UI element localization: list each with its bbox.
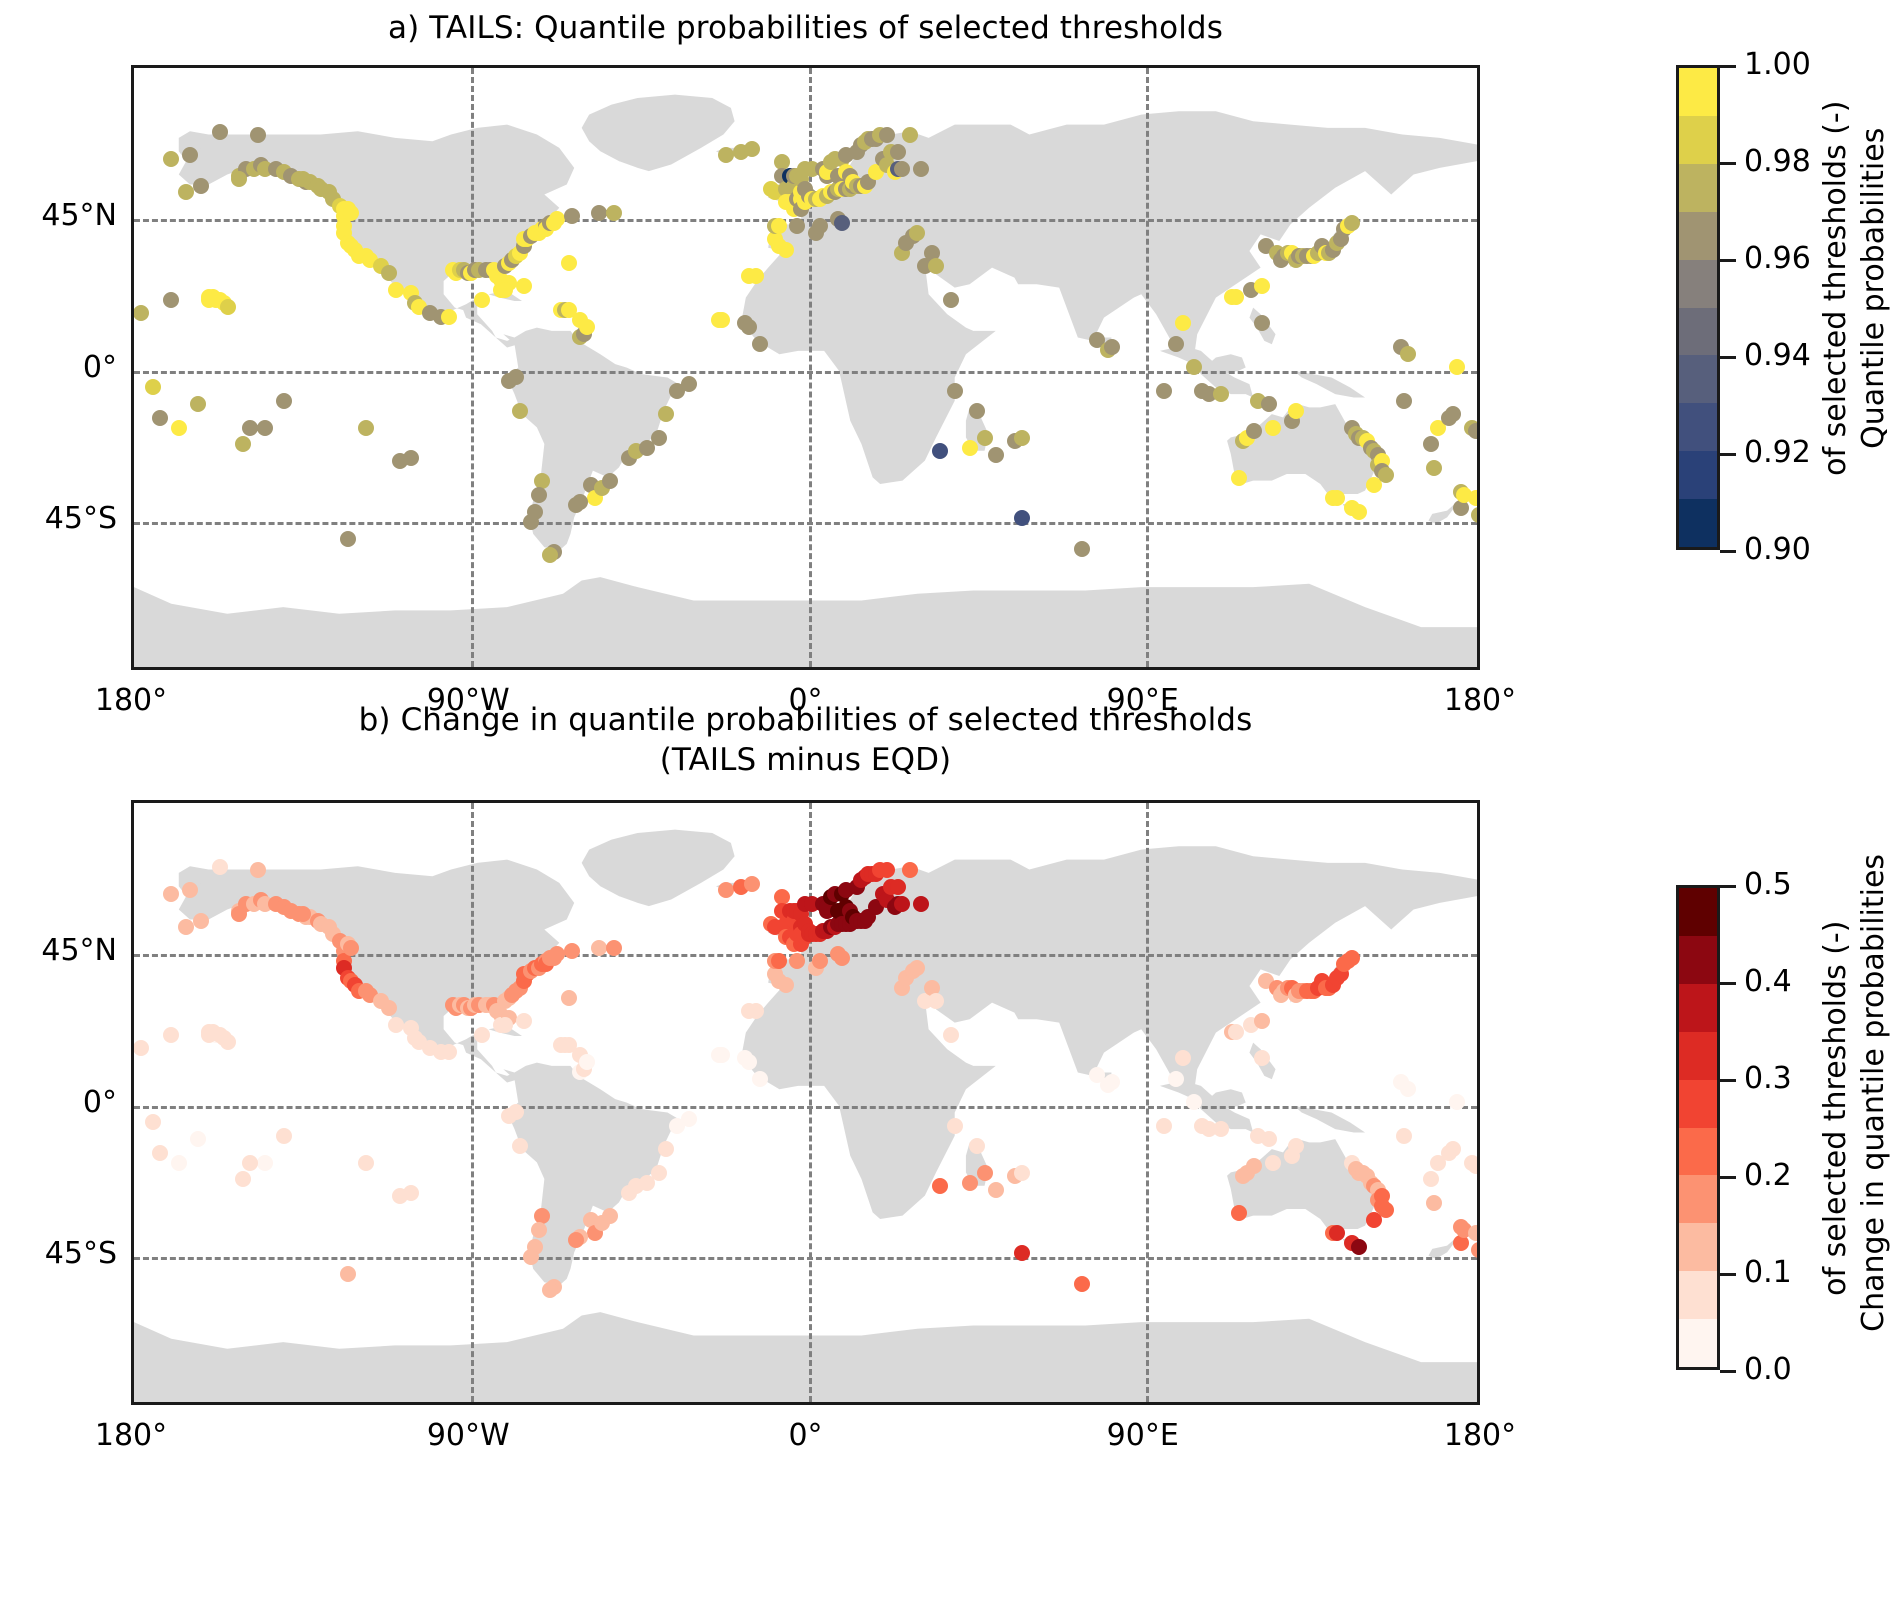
- panel-b-title: b) Change in quantile probabilities of s…: [131, 700, 1480, 780]
- station-marker: [549, 946, 565, 962]
- station-marker: [789, 218, 805, 234]
- station-marker: [1378, 467, 1394, 483]
- colorbar-segment: [1679, 984, 1717, 1032]
- station-marker: [752, 336, 768, 352]
- station-marker: [523, 1249, 539, 1265]
- station-marker: [152, 1145, 168, 1161]
- station-marker: [1378, 1202, 1394, 1218]
- station-marker: [988, 447, 1004, 463]
- station-marker: [1231, 470, 1247, 486]
- station-marker: [718, 882, 734, 898]
- station-marker: [1074, 1276, 1090, 1292]
- station-marker: [962, 440, 978, 456]
- station-marker: [1168, 1071, 1184, 1087]
- station-marker: [1265, 1155, 1281, 1171]
- station-marker: [1400, 1081, 1416, 1097]
- station-marker: [1104, 1074, 1120, 1090]
- station-marker: [343, 940, 359, 956]
- station-marker: [1449, 359, 1465, 375]
- station-marker: [890, 144, 906, 160]
- colorbar-tick: [1720, 1273, 1736, 1276]
- world-land-a: [134, 68, 1477, 667]
- station-marker: [879, 862, 895, 878]
- panel-a-map[interactable]: [131, 65, 1480, 670]
- station-marker: [778, 977, 794, 993]
- station-marker: [681, 1111, 697, 1127]
- station-marker: [358, 1155, 374, 1171]
- station-marker: [591, 205, 607, 221]
- ytick-label: 45°S: [0, 1237, 117, 1271]
- station-marker: [969, 1138, 985, 1154]
- station-marker: [193, 178, 209, 194]
- station-marker: [242, 1155, 258, 1171]
- station-marker: [1351, 1239, 1367, 1255]
- station-marker: [932, 1178, 948, 1194]
- station-marker: [651, 1165, 667, 1181]
- station-marker: [501, 1108, 517, 1124]
- world-land-b: [134, 803, 1477, 1402]
- xtick-label: 90°W: [427, 1419, 510, 1453]
- colorbar-tick: [1720, 453, 1736, 456]
- station-marker: [1329, 490, 1345, 506]
- station-marker: [250, 862, 266, 878]
- station-marker: [913, 896, 929, 912]
- station-marker: [134, 1040, 149, 1056]
- station-marker: [606, 940, 622, 956]
- station-marker: [1426, 460, 1442, 476]
- station-marker: [531, 487, 547, 503]
- colorbar-segment: [1679, 936, 1717, 984]
- colorbar-segment: [1679, 260, 1717, 308]
- station-marker: [1468, 423, 1478, 439]
- station-marker: [1396, 393, 1412, 409]
- station-marker: [152, 410, 168, 426]
- station-marker: [1400, 346, 1416, 362]
- colorbar-segment: [1679, 451, 1717, 499]
- station-marker: [340, 1266, 356, 1282]
- station-marker: [988, 1182, 1004, 1198]
- station-marker: [890, 879, 906, 895]
- station-marker: [163, 886, 179, 902]
- station-marker: [516, 278, 532, 294]
- panel-b-title-line1: b) Change in quantile probabilities of s…: [131, 700, 1480, 740]
- station-marker: [1014, 430, 1030, 446]
- colorbar-tick: [1720, 65, 1736, 68]
- panel-b-title-line2: (TAILS minus EQD): [131, 740, 1480, 780]
- station-marker: [163, 151, 179, 167]
- station-marker: [602, 473, 618, 489]
- station-marker: [834, 215, 850, 231]
- colorbar-tick: [1720, 1370, 1736, 1373]
- station-marker: [388, 282, 404, 298]
- colorbar-tick: [1720, 356, 1736, 359]
- station-marker: [231, 171, 247, 187]
- colorbar-segment: [1679, 116, 1717, 164]
- station-marker: [1014, 1165, 1030, 1181]
- station-marker: [591, 940, 607, 956]
- station-marker: [902, 862, 918, 878]
- station-marker: [516, 1013, 532, 1029]
- station-marker: [1261, 396, 1277, 412]
- station-marker: [163, 1027, 179, 1043]
- colorbar-segment: [1679, 1080, 1717, 1128]
- station-marker: [744, 876, 760, 892]
- station-marker: [250, 127, 266, 143]
- station-marker: [579, 1054, 595, 1070]
- station-marker: [171, 1155, 187, 1171]
- station-marker: [1453, 500, 1469, 516]
- station-marker: [235, 436, 251, 452]
- station-marker: [943, 1027, 959, 1043]
- colorbar-segment: [1679, 212, 1717, 260]
- colorbar-segment: [1679, 1319, 1717, 1367]
- colorbar-segment: [1679, 1128, 1717, 1176]
- station-marker: [523, 514, 539, 530]
- station-marker: [1175, 1050, 1191, 1066]
- panel-b-colorbar: [1676, 885, 1720, 1370]
- station-marker: [220, 299, 236, 315]
- station-marker: [943, 292, 959, 308]
- station-marker: [909, 960, 925, 976]
- colorbar-segment: [1679, 164, 1717, 212]
- station-marker: [1396, 1128, 1412, 1144]
- station-marker: [1351, 504, 1367, 520]
- colorbar-tick: [1720, 550, 1736, 553]
- station-marker: [392, 1188, 408, 1204]
- station-marker: [1468, 1158, 1478, 1174]
- ytick-label: 0°: [0, 351, 117, 385]
- station-marker: [744, 141, 760, 157]
- station-marker: [145, 379, 161, 395]
- panel-a-title: a) TAILS: Quantile probabilities of sele…: [131, 8, 1480, 48]
- station-marker: [542, 547, 558, 563]
- station-marker: [1213, 1121, 1229, 1137]
- station-marker: [182, 882, 198, 898]
- station-marker: [1423, 436, 1439, 452]
- station-marker: [1254, 315, 1270, 331]
- station-marker: [257, 420, 273, 436]
- station-marker: [235, 1171, 251, 1187]
- station-marker: [1228, 1024, 1244, 1040]
- station-marker: [812, 218, 828, 234]
- cb-a-title-l1: Quantile probabilities: [1856, 128, 1891, 449]
- station-marker: [752, 1071, 768, 1087]
- station-marker: [212, 859, 228, 875]
- station-marker: [1445, 1141, 1461, 1157]
- station-marker: [257, 1155, 273, 1171]
- station-marker: [741, 1054, 757, 1070]
- station-marker: [977, 430, 993, 446]
- station-marker: [381, 1000, 397, 1016]
- station-marker: [748, 1003, 764, 1019]
- panel-a-colorbar-subtitle: of selected thresholds (-): [1782, 65, 1826, 550]
- panel-b-map[interactable]: [131, 800, 1480, 1405]
- station-marker: [714, 1047, 730, 1063]
- xtick-label: 180°: [1444, 1419, 1516, 1453]
- station-marker: [231, 906, 247, 922]
- station-marker: [1014, 1245, 1030, 1261]
- station-marker: [564, 943, 580, 959]
- station-marker: [928, 258, 944, 274]
- panel-b-colorbar-subtitle: of selected thresholds (-): [1782, 885, 1826, 1370]
- cb-b-title-l2: of selected thresholds (-): [1818, 921, 1853, 1296]
- station-marker: [497, 282, 513, 298]
- cb-a-title-l2: of selected thresholds (-): [1818, 101, 1853, 476]
- station-marker: [163, 292, 179, 308]
- panel-b-map-inner: [134, 803, 1477, 1402]
- station-marker: [1254, 278, 1270, 294]
- station-marker: [977, 1165, 993, 1181]
- station-marker: [1246, 423, 1262, 439]
- station-marker: [834, 950, 850, 966]
- station-marker: [789, 953, 805, 969]
- figure-root: a) TAILS: Quantile probabilities of sele…: [0, 0, 1892, 1604]
- station-marker: [531, 1222, 547, 1238]
- station-marker: [512, 403, 528, 419]
- station-marker: [1246, 1158, 1262, 1174]
- station-marker: [388, 1017, 404, 1033]
- station-marker: [928, 993, 944, 1009]
- colorbar-tick: [1720, 259, 1736, 262]
- ytick-label: 0°: [0, 1086, 117, 1120]
- station-marker: [894, 161, 910, 177]
- colorbar-tick: [1720, 885, 1736, 888]
- station-marker: [220, 1034, 236, 1050]
- station-marker: [1254, 1013, 1270, 1029]
- station-marker: [1288, 1138, 1304, 1154]
- ytick-label: 45°N: [0, 934, 117, 968]
- xtick-label: 0°: [788, 1419, 822, 1453]
- station-marker: [178, 184, 194, 200]
- station-marker: [182, 147, 198, 163]
- station-marker: [1156, 383, 1172, 399]
- station-marker: [778, 242, 794, 258]
- station-marker: [564, 208, 580, 224]
- station-marker: [681, 376, 697, 392]
- station-marker: [602, 1208, 618, 1224]
- ytick-label: 45°N: [0, 199, 117, 233]
- station-marker: [771, 218, 787, 234]
- station-marker: [295, 171, 311, 187]
- station-marker: [748, 268, 764, 284]
- station-marker: [1265, 420, 1281, 436]
- station-marker: [512, 1138, 528, 1154]
- station-marker: [1254, 1050, 1270, 1066]
- station-marker: [474, 292, 490, 308]
- station-marker: [276, 393, 292, 409]
- station-marker: [1175, 315, 1191, 331]
- station-marker: [579, 319, 595, 335]
- station-marker: [193, 913, 209, 929]
- station-marker: [812, 953, 828, 969]
- station-marker: [651, 430, 667, 446]
- colorbar-segment: [1679, 355, 1717, 403]
- station-marker: [1186, 1094, 1202, 1110]
- station-marker: [201, 1027, 217, 1043]
- station-marker: [561, 990, 577, 1006]
- station-marker: [718, 147, 734, 163]
- station-marker: [1445, 406, 1461, 422]
- station-marker: [343, 205, 359, 221]
- colorbar-segment: [1679, 68, 1717, 116]
- station-marker: [242, 420, 258, 436]
- panel-a-map-inner: [134, 68, 1477, 667]
- station-marker: [879, 127, 895, 143]
- station-marker: [358, 420, 374, 436]
- station-marker: [474, 1027, 490, 1043]
- station-marker: [1213, 386, 1229, 402]
- station-marker: [606, 205, 622, 221]
- station-marker: [913, 161, 929, 177]
- panel-a-colorbar: [1676, 65, 1720, 550]
- station-marker: [771, 953, 787, 969]
- station-marker: [295, 906, 311, 922]
- colorbar-segment: [1679, 1032, 1717, 1080]
- station-marker: [190, 396, 206, 412]
- colorbar-segment: [1679, 1271, 1717, 1319]
- station-marker: [932, 443, 948, 459]
- panel-a-title-line1: a) TAILS: Quantile probabilities of sele…: [131, 8, 1480, 48]
- ytick-label: 45°S: [0, 502, 117, 536]
- station-marker: [178, 919, 194, 935]
- station-marker: [1231, 1205, 1247, 1221]
- station-marker: [1014, 510, 1030, 526]
- station-marker: [1468, 1225, 1478, 1241]
- station-marker: [658, 406, 674, 422]
- station-marker: [1468, 490, 1478, 506]
- station-marker: [171, 420, 187, 436]
- colorbar-segment: [1679, 888, 1717, 936]
- station-marker: [441, 1044, 457, 1060]
- station-marker: [962, 1175, 978, 1191]
- station-marker: [542, 1282, 558, 1298]
- station-marker: [568, 1232, 584, 1248]
- station-marker: [947, 1118, 963, 1134]
- station-marker: [714, 312, 730, 328]
- colorbar-segment: [1679, 403, 1717, 451]
- station-marker: [1288, 403, 1304, 419]
- colorbar-segment: [1679, 1175, 1717, 1223]
- station-marker: [134, 305, 149, 321]
- xtick-label: 180°: [95, 1419, 167, 1453]
- station-marker: [1449, 1094, 1465, 1110]
- station-marker: [1156, 1118, 1172, 1134]
- station-marker: [549, 211, 565, 227]
- station-marker: [902, 127, 918, 143]
- station-marker: [1423, 1171, 1439, 1187]
- station-marker: [212, 124, 228, 140]
- station-marker: [1453, 1235, 1469, 1251]
- station-marker: [201, 292, 217, 308]
- colorbar-tick: [1720, 1176, 1736, 1179]
- station-marker: [1074, 541, 1090, 557]
- station-marker: [276, 1128, 292, 1144]
- station-marker: [145, 1114, 161, 1130]
- station-marker: [1104, 339, 1120, 355]
- station-marker: [1168, 336, 1184, 352]
- station-marker: [909, 225, 925, 241]
- colorbar-tick: [1720, 162, 1736, 165]
- station-marker: [501, 373, 517, 389]
- station-marker: [190, 1131, 206, 1147]
- station-marker: [381, 265, 397, 281]
- xtick-label: 90°E: [1107, 1419, 1179, 1453]
- station-marker: [1426, 1195, 1442, 1211]
- station-marker: [1344, 215, 1360, 231]
- colorbar-segment: [1679, 308, 1717, 356]
- cb-b-title-l1: Change in quantile probabilities: [1856, 854, 1891, 1332]
- colorbar-segment: [1679, 499, 1717, 547]
- station-marker: [1261, 1131, 1277, 1147]
- station-marker: [1186, 359, 1202, 375]
- station-marker: [894, 896, 910, 912]
- station-marker: [1329, 1225, 1345, 1241]
- station-marker: [947, 383, 963, 399]
- station-marker: [441, 309, 457, 325]
- station-marker: [392, 453, 408, 469]
- station-marker: [561, 255, 577, 271]
- station-marker: [340, 531, 356, 547]
- station-marker: [969, 403, 985, 419]
- station-marker: [497, 1017, 513, 1033]
- colorbar-segment: [1679, 1223, 1717, 1271]
- colorbar-tick: [1720, 1079, 1736, 1082]
- station-marker: [658, 1141, 674, 1157]
- station-marker: [568, 497, 584, 513]
- colorbar-tick: [1720, 982, 1736, 985]
- station-marker: [1344, 950, 1360, 966]
- station-marker: [741, 319, 757, 335]
- station-marker: [1228, 289, 1244, 305]
